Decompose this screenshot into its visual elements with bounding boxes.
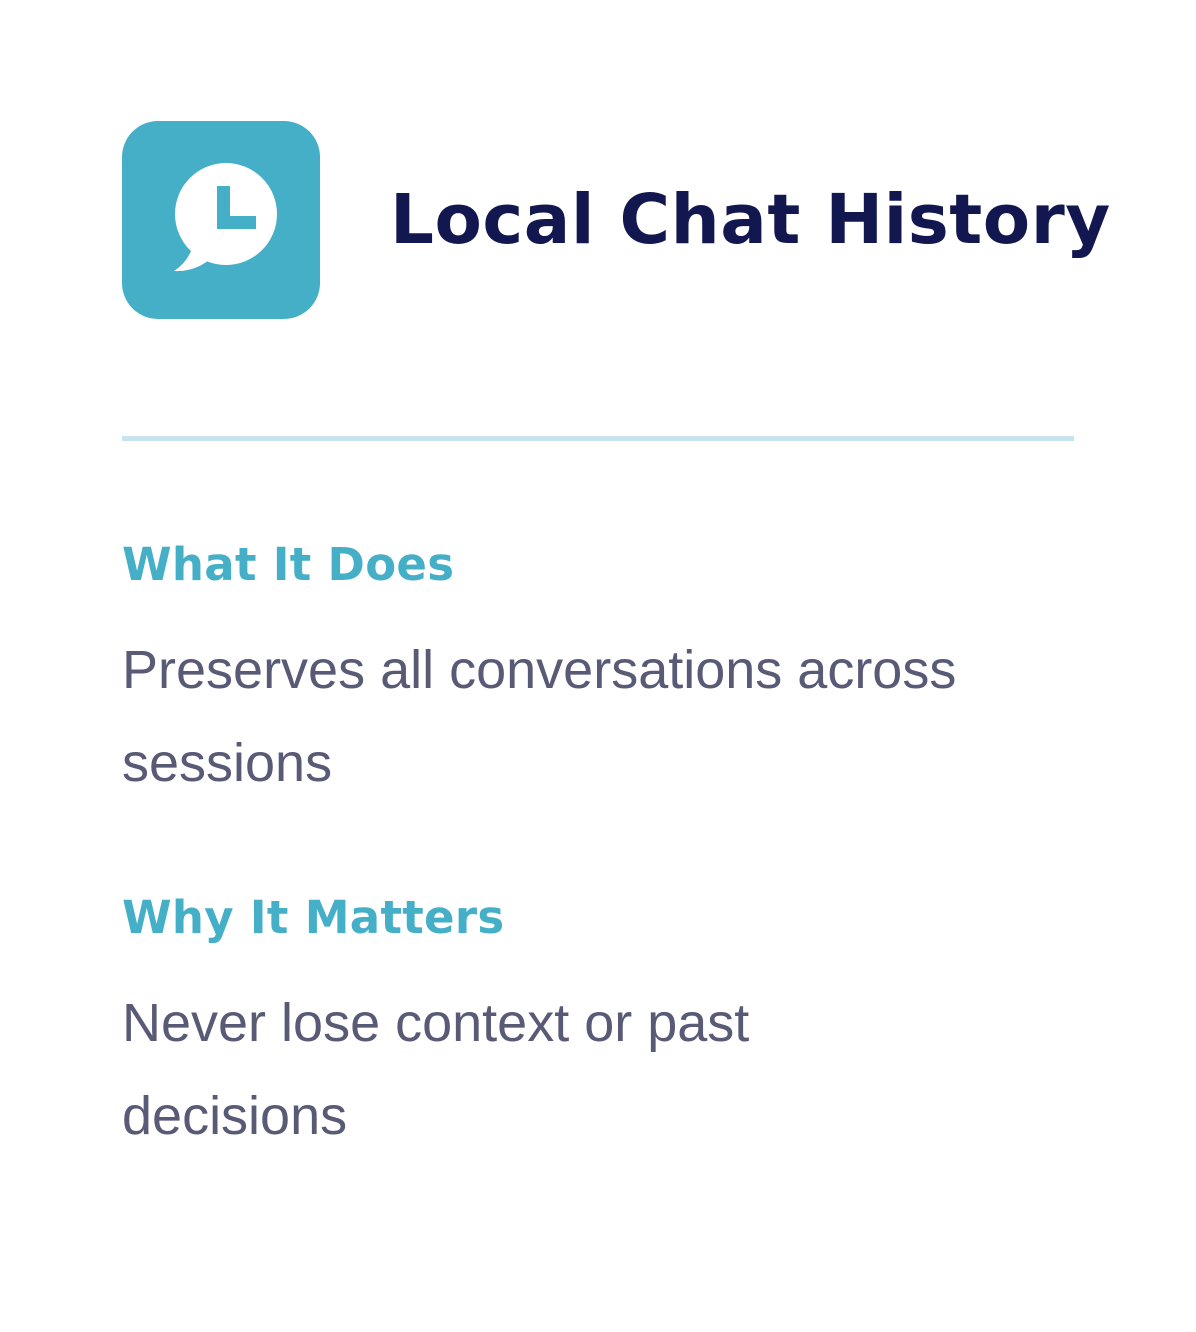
section-what-it-does: What It Does Preserves all conversations… [122, 541, 1074, 810]
section-body-what-it-does: Preserves all conversations across sessi… [122, 624, 972, 810]
card-content: What It Does Preserves all conversations… [122, 541, 1074, 1163]
section-heading-why-it-matters: Why It Matters [122, 894, 1074, 941]
feature-card: Local Chat History What It Does Preserve… [0, 0, 1196, 1332]
chat-history-icon [122, 121, 320, 319]
section-body-why-it-matters: Never lose context or past decisions [122, 977, 972, 1163]
section-why-it-matters: Why It Matters Never lose context or pas… [122, 894, 1074, 1163]
header-divider [122, 436, 1074, 441]
card-header: Local Chat History [122, 120, 1074, 320]
page-title: Local Chat History [390, 186, 1111, 255]
section-heading-what-it-does: What It Does [122, 541, 1074, 588]
